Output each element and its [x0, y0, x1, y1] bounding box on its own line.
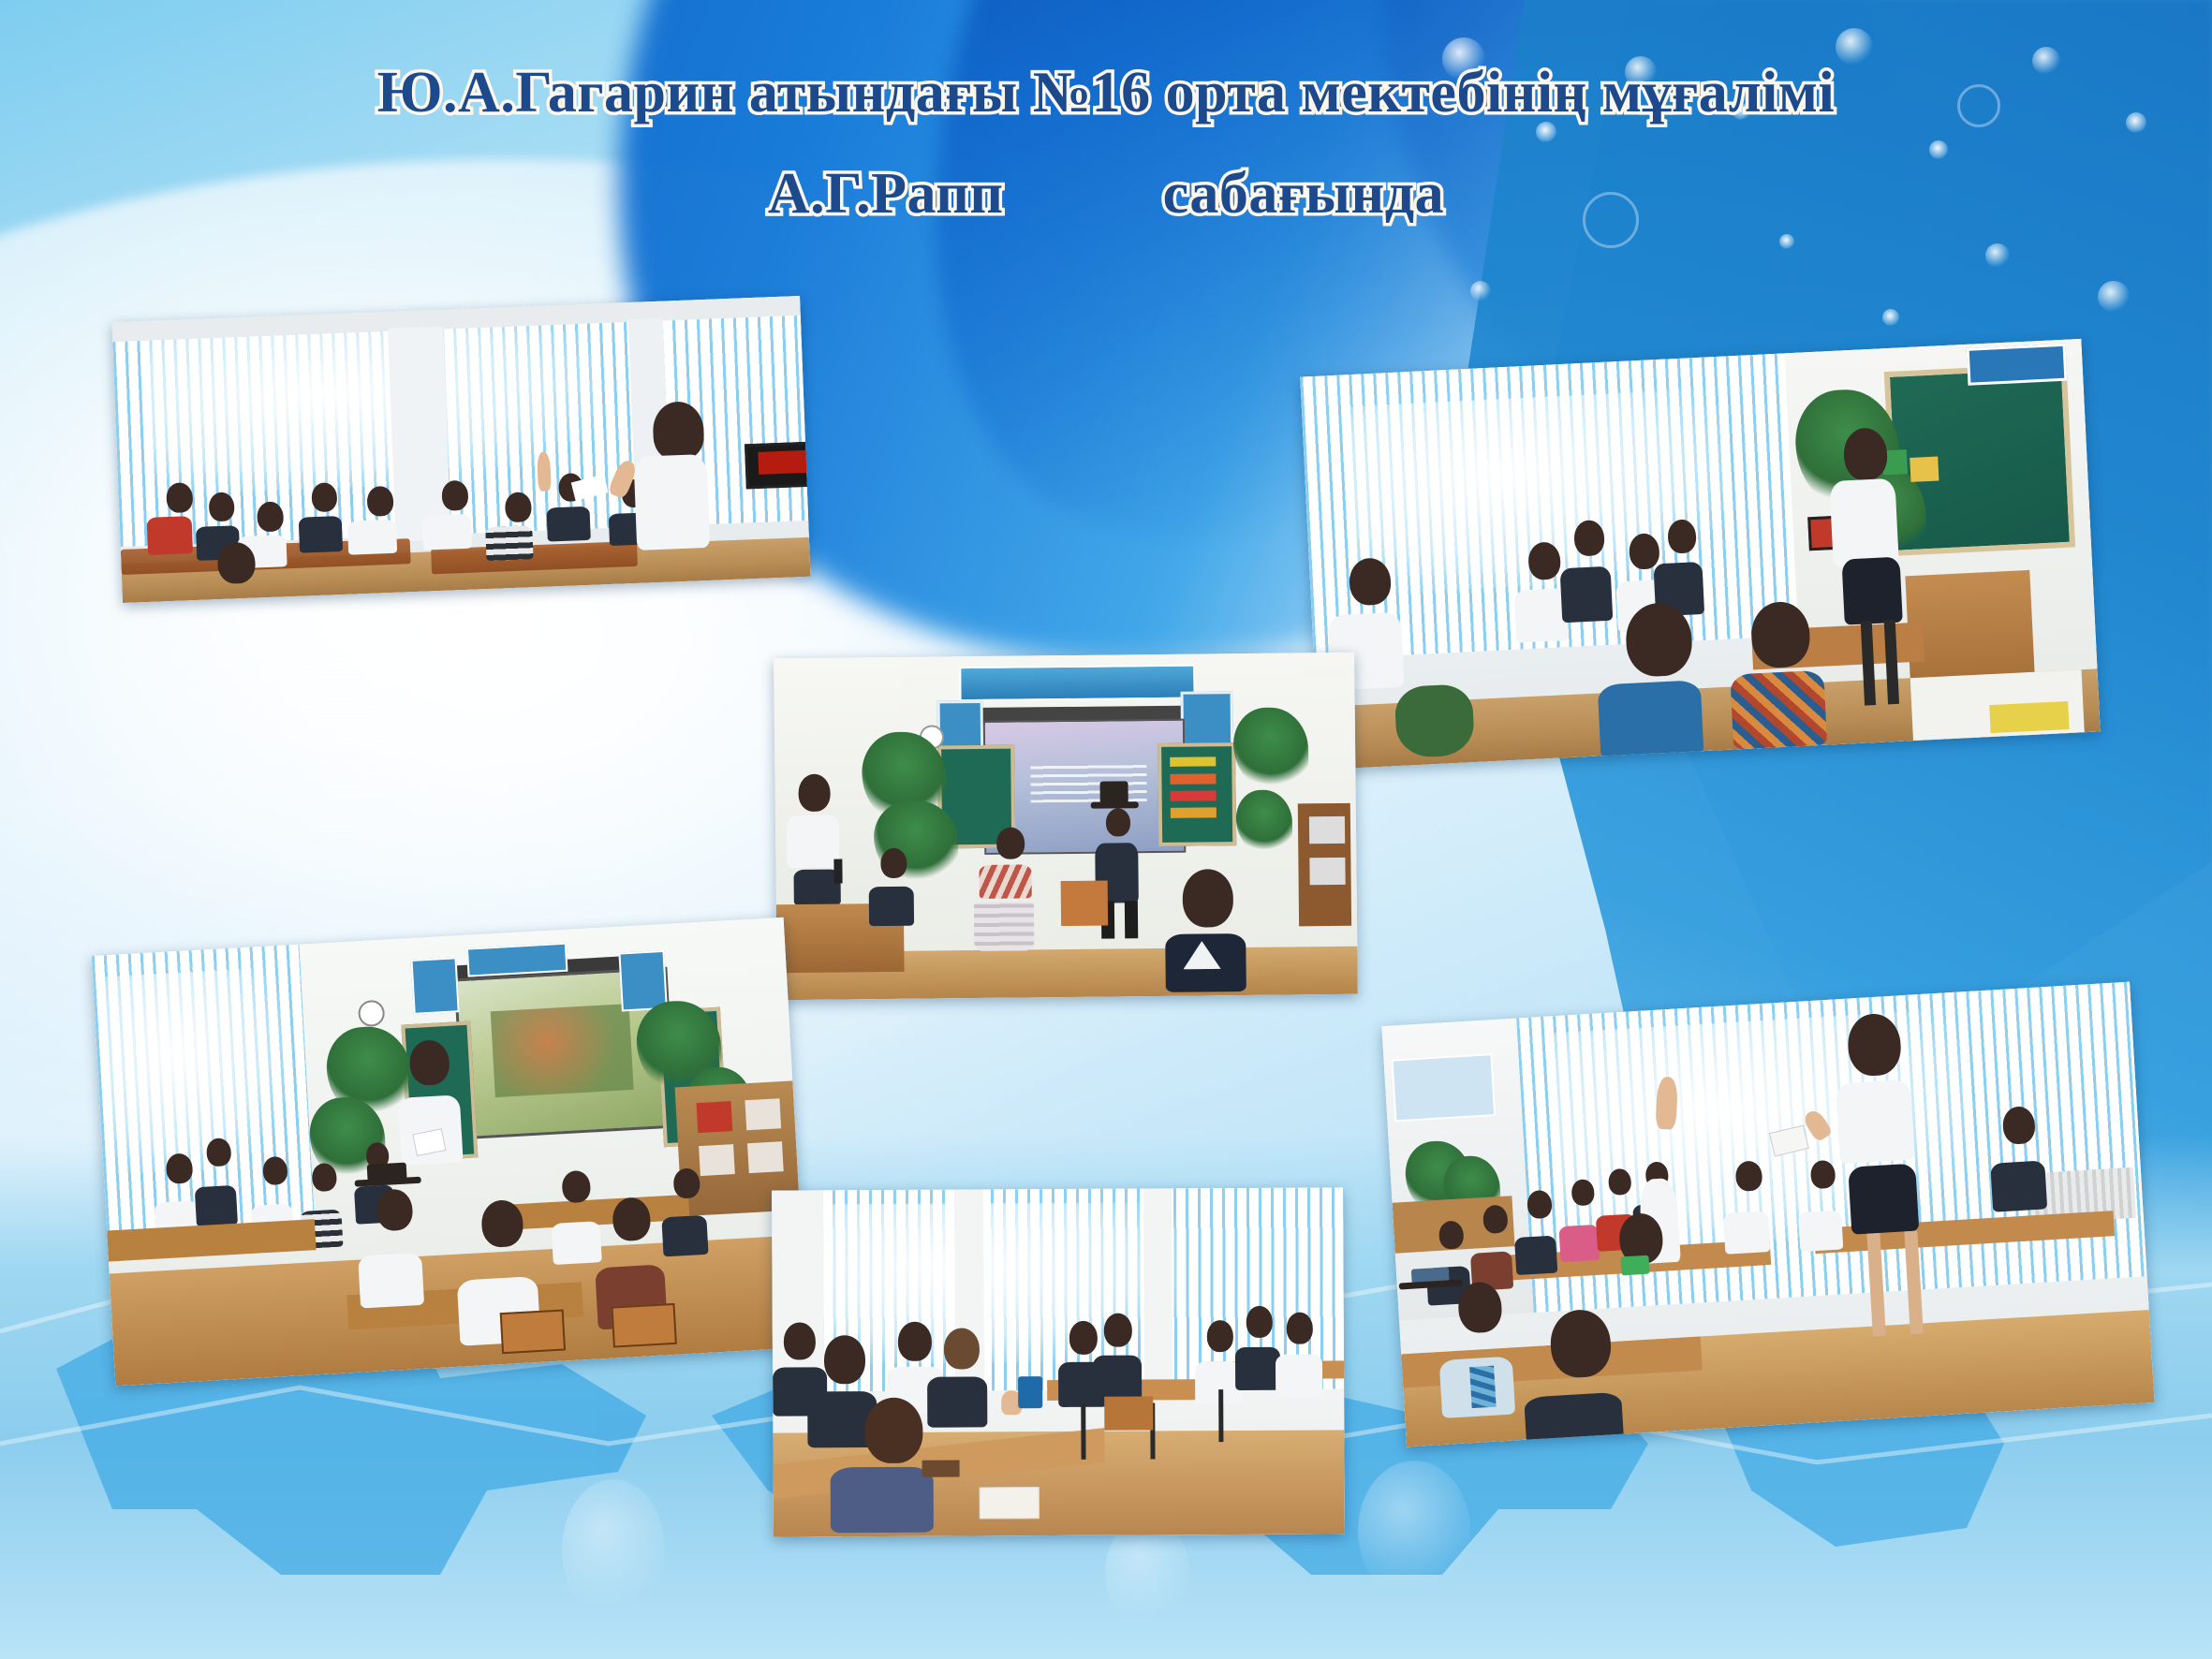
photo-top-left-image — [112, 296, 811, 603]
photo-bottom-center[interactable] — [772, 1187, 1345, 1536]
slide-title: Ю.А.Гагарин атындағы №16 орта мектебінің… — [0, 56, 2212, 230]
photo-top-right[interactable] — [1300, 339, 2101, 770]
photo-bottom-left[interactable] — [92, 918, 808, 1387]
teacher-name: А.Г.Рапп — [768, 162, 1004, 226]
photo-top-left[interactable] — [112, 296, 811, 603]
title-line-2: А.Г.Раппсабағында — [0, 157, 2212, 230]
photo-center[interactable] — [774, 653, 1358, 1000]
photo-bottom-right-image — [1381, 982, 2154, 1447]
photo-top-right-image — [1300, 339, 2101, 770]
photo-bottom-right[interactable] — [1381, 982, 2154, 1447]
photo-center-image — [774, 653, 1358, 1000]
presentation-slide: Ю.А.Гагарин атындағы №16 орта мектебінің… — [0, 0, 2212, 1659]
photo-bottom-center-image — [772, 1187, 1345, 1536]
photo-bottom-left-image — [92, 918, 808, 1387]
title-lesson-word: сабағында — [1163, 162, 1444, 226]
title-line-1: Ю.А.Гагарин атындағы №16 орта мектебінің… — [0, 56, 2212, 129]
